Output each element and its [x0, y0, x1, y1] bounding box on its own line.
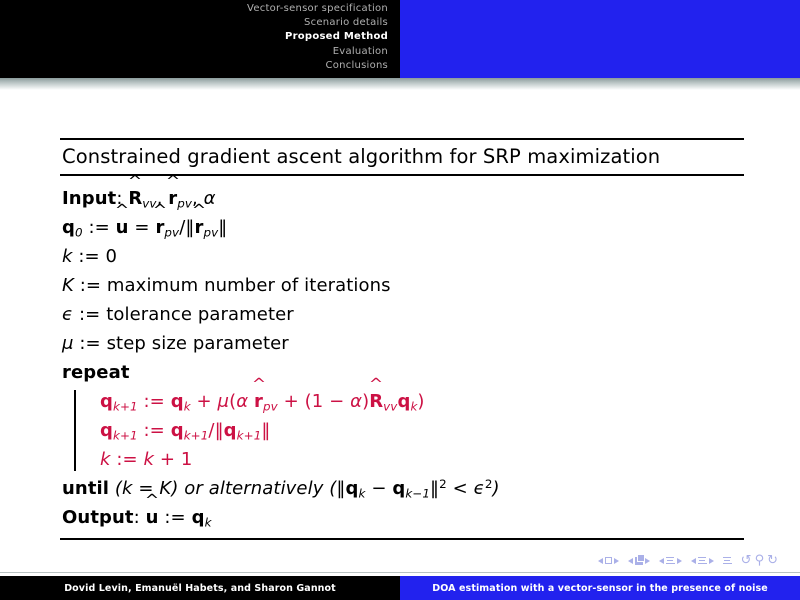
until-qk-prev-subscript: k−1	[405, 486, 430, 500]
rpv-symbol-norm: r	[194, 213, 203, 242]
alpha-symbol-loop: α	[236, 391, 248, 412]
norm-bar-close-loop: ‖	[261, 420, 270, 441]
input-rpv-symbol: r	[168, 184, 177, 213]
plus-operator-increment: +	[160, 449, 175, 470]
until-minus-operator: −	[371, 478, 386, 499]
next-frame-icon[interactable]	[645, 558, 650, 564]
next-slide-icon[interactable]	[614, 558, 619, 564]
paren-close-inner: )	[362, 391, 369, 412]
until-paren-open: (	[115, 478, 122, 499]
Rvv-symbol-loop: R	[369, 387, 383, 416]
rpv-symbol: r	[155, 213, 164, 242]
algorithm-line-epsilon-def: ϵ := tolerance parameter	[62, 300, 742, 329]
algorithm-body: Input: Rvv, rpv, α q0 := u = rpv/‖rpv‖ k…	[60, 176, 744, 538]
algorithm-block: Constrained gradient ascent algorithm fo…	[60, 138, 744, 540]
algorithm-loop-body: qk+1 := qk + μ(α rpv + (1 − α)Rvvqk) qk+…	[74, 387, 742, 474]
input-Rvv-symbol: R	[128, 184, 142, 213]
paren-close-outer: )	[417, 391, 424, 412]
loop-line-gradient-step: qk+1 := qk + μ(α rpv + (1 − α)Rvvqk)	[100, 387, 742, 416]
loop-assign-operator-2: :=	[144, 420, 165, 441]
subsection-icon[interactable]	[666, 557, 675, 565]
previous-frame-icon[interactable]	[628, 558, 633, 564]
q-next-rhs-symbol: q	[171, 420, 184, 441]
k-init-value: 0	[106, 246, 118, 267]
output-assign-operator: :=	[164, 507, 185, 528]
increment-value: 1	[181, 449, 193, 470]
q-next-subscript-norm: k+1	[113, 428, 138, 442]
output-q-subscript: k	[205, 515, 212, 529]
assign-operator: :=	[88, 217, 109, 238]
mu-description: step size parameter	[107, 333, 289, 354]
q-norm-subscript: k+1	[237, 428, 262, 442]
algorithm-line-until: until (k = K) or alternatively (‖qk − qk…	[62, 474, 742, 503]
until-K-variable: K	[159, 478, 171, 499]
u-hat-symbol: u	[116, 213, 129, 242]
footer-authors: Dovid Levin, Emanuël Habets, and Sharon …	[0, 576, 400, 600]
loop-assign-operator-1: :=	[144, 391, 165, 412]
until-qk-symbol: q	[346, 478, 359, 499]
back-forward-search-group[interactable]: ↺ ⚲ ↻	[741, 554, 778, 567]
loop-line-increment: k := k + 1	[100, 445, 742, 474]
output-q-symbol: q	[192, 507, 205, 528]
q-next-subscript: k+1	[113, 399, 138, 413]
q0-subscript: 0	[75, 225, 83, 239]
input-keyword: Input	[62, 188, 116, 209]
slide-navigation-group[interactable]	[598, 557, 619, 564]
document-icon[interactable]	[723, 557, 732, 565]
q-next-rhs-subscript: k+1	[184, 428, 209, 442]
loop-body-vertical-rule	[74, 390, 76, 471]
redo-icon[interactable]: ↻	[767, 554, 778, 567]
assign-operator-K: :=	[80, 275, 101, 296]
search-icon[interactable]: ⚲	[755, 554, 765, 567]
mu-symbol-loop: μ	[218, 391, 230, 412]
next-subsection-icon[interactable]	[677, 558, 682, 564]
until-qk-prev-symbol: q	[392, 478, 405, 499]
section-icon[interactable]	[698, 557, 707, 565]
loop-assign-operator-3: :=	[116, 449, 137, 470]
header-drop-shadow	[0, 78, 800, 90]
norm-bar-open: ‖	[185, 217, 194, 238]
rpv-symbol-loop: r	[254, 387, 263, 416]
epsilon-variable: ϵ	[62, 304, 73, 325]
q-next-symbol: q	[100, 391, 113, 412]
k-variable-loop-2: k	[144, 449, 155, 470]
rpv-norm-subscript: pv	[203, 225, 218, 239]
algorithm-title: Constrained gradient ascent algorithm fo…	[60, 140, 744, 174]
algorithm-line-output: Output: u := qk	[62, 503, 742, 532]
previous-slide-icon[interactable]	[598, 558, 603, 564]
frame-icon[interactable]	[635, 557, 643, 565]
previous-subsection-icon[interactable]	[659, 558, 664, 564]
plus-operator-1: +	[197, 391, 212, 412]
output-keyword: Output	[62, 507, 134, 528]
algorithm-line-k-init: k := 0	[62, 242, 742, 271]
qk-symbol: q	[171, 391, 184, 412]
algorithm-line-K-def: K := maximum number of iterations	[62, 271, 742, 300]
output-colon: :	[134, 507, 140, 528]
until-epsilon-symbol: ϵ	[474, 478, 485, 499]
beamer-navigation-symbols[interactable]: ↺ ⚲ ↻	[598, 554, 778, 567]
until-or-keyword: or	[184, 478, 203, 499]
k-variable-loop: k	[100, 449, 111, 470]
footer-title: DOA estimation with a vector-sensor in t…	[400, 576, 800, 600]
q-next-symbol-norm: q	[100, 420, 113, 441]
q-norm-symbol: q	[224, 420, 237, 441]
until-epsilon-exponent: 2	[485, 477, 493, 491]
rpv-subscript-loop: pv	[263, 399, 278, 413]
plus-operator-2: +	[284, 391, 299, 412]
section-navigation-group[interactable]	[691, 557, 714, 565]
K-description: maximum number of iterations	[107, 275, 391, 296]
until-paren-close: )	[171, 478, 178, 499]
until-paren-close-2: )	[493, 478, 500, 499]
undo-icon[interactable]: ↺	[741, 554, 752, 567]
qk-symbol-2: q	[397, 391, 410, 412]
algorithm-rule-bottom	[60, 538, 744, 540]
K-variable: K	[62, 275, 74, 296]
algorithm-line-mu-def: μ := step size parameter	[62, 329, 742, 358]
input-rpv-subscript: pv	[177, 196, 192, 210]
algorithm-line-q0-init: q0 := u = rpv/‖rpv‖	[62, 213, 742, 242]
until-qk-subscript: k	[359, 486, 366, 500]
equals-operator: =	[134, 217, 149, 238]
alpha-symbol-loop-2: α	[350, 391, 362, 412]
nav-item-evaluation[interactable]: Evaluation	[0, 45, 388, 59]
until-k-variable: k	[122, 478, 133, 499]
section-navigation[interactable]: Vector-sensor specification Scenario det…	[0, 2, 388, 73]
norm-bar-close: ‖	[218, 217, 227, 238]
slide-footer: Dovid Levin, Emanuël Habets, and Sharon …	[0, 576, 800, 600]
k-variable: k	[62, 246, 73, 267]
qk-subscript: k	[184, 399, 191, 413]
nav-item-conclusions[interactable]: Conclusions	[0, 59, 388, 73]
until-alternatively-keyword: alternatively	[209, 478, 324, 499]
assign-operator-mu: :=	[79, 333, 100, 354]
rpv-subscript: pv	[164, 225, 179, 239]
q0-symbol: q	[62, 217, 75, 238]
slide-icon[interactable]	[605, 557, 612, 564]
slide-header: Vector-sensor specification Scenario det…	[0, 0, 800, 78]
loop-line-normalize: qk+1 := qk+1/‖qk+1‖	[100, 416, 742, 445]
mu-variable: μ	[62, 333, 74, 354]
assign-operator-k: :=	[78, 246, 99, 267]
footline-separator	[0, 572, 800, 573]
Rvv-subscript-loop: vv	[383, 399, 397, 413]
until-norm-exponent: 2	[439, 477, 447, 491]
epsilon-description: tolerance parameter	[106, 304, 294, 325]
until-keyword: until	[62, 478, 109, 499]
subsection-navigation-group[interactable]	[659, 557, 682, 565]
nav-item-vector-sensor-specification[interactable]: Vector-sensor specification	[0, 2, 388, 16]
assign-operator-epsilon: :=	[79, 304, 100, 325]
until-less-than: <	[453, 478, 468, 499]
one-minus-group: (1 −	[305, 391, 351, 412]
output-u-hat-symbol: u	[146, 503, 159, 532]
norm-bar-open-until: ‖	[336, 478, 345, 499]
norm-bar-close-until: ‖	[430, 478, 439, 499]
nav-item-scenario-details[interactable]: Scenario details	[0, 16, 388, 30]
algorithm-line-repeat: repeat	[62, 358, 742, 387]
nav-item-proposed-method[interactable]: Proposed Method	[0, 30, 388, 44]
norm-bar-open-loop: ‖	[215, 420, 224, 441]
next-section-icon[interactable]	[709, 558, 714, 564]
previous-section-icon[interactable]	[691, 558, 696, 564]
repeat-keyword: repeat	[62, 362, 130, 383]
frame-navigation-group[interactable]	[628, 557, 650, 565]
